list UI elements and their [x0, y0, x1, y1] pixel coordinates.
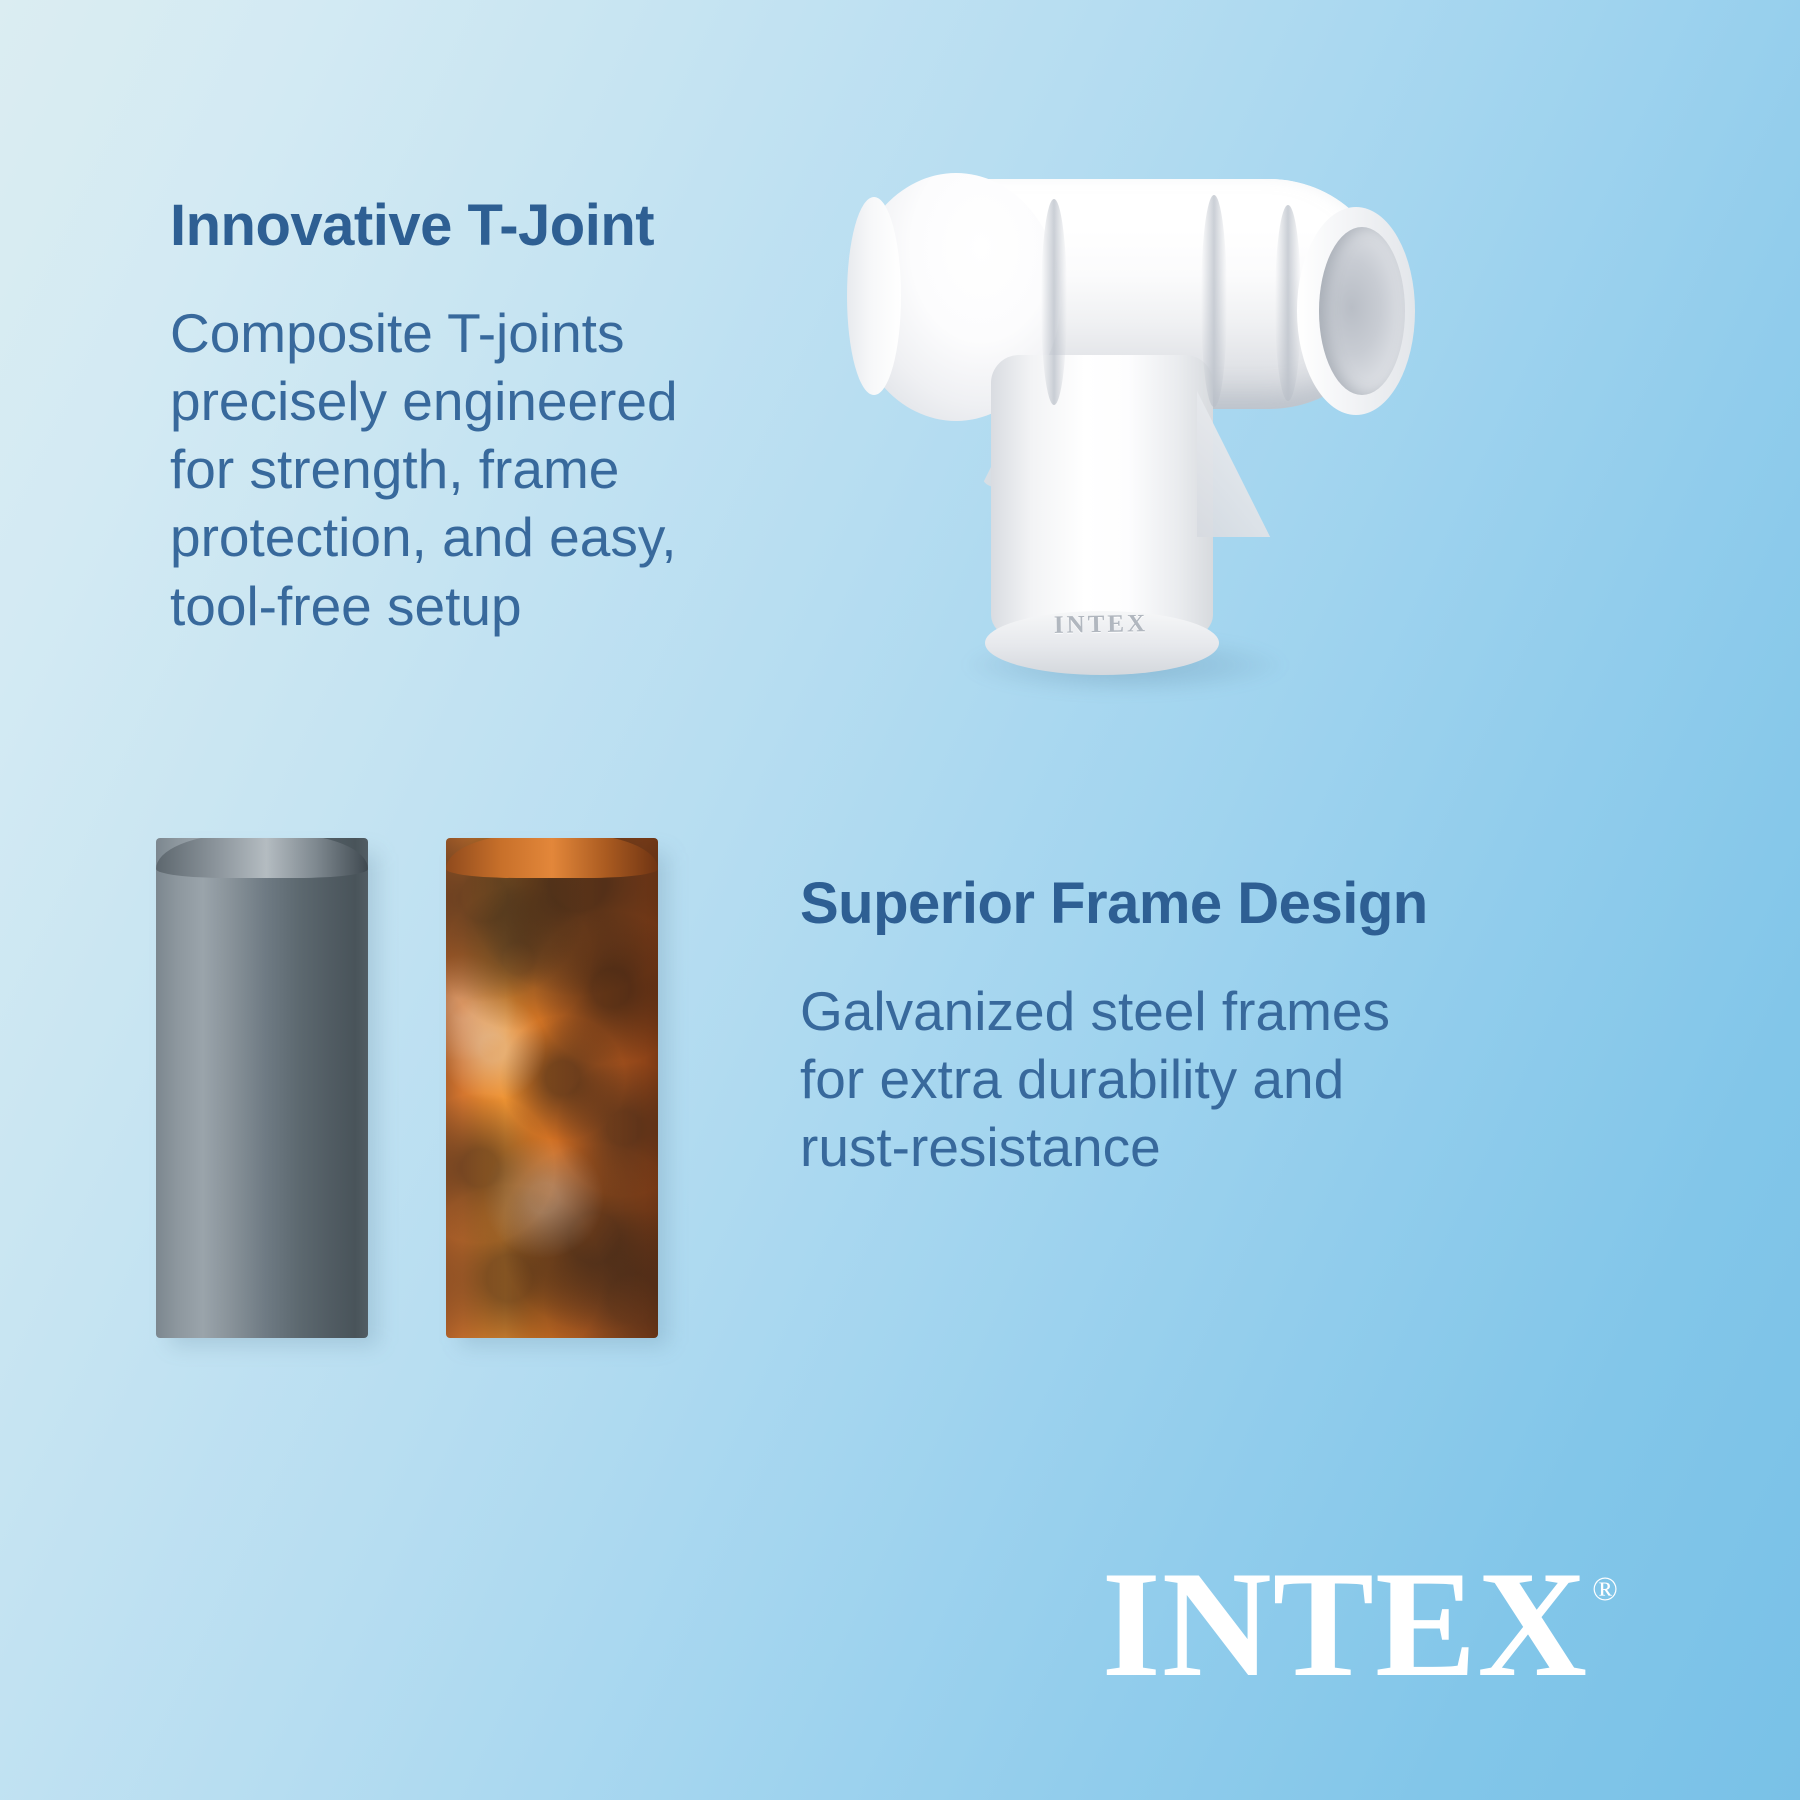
t-joint-socket-bore — [1319, 227, 1405, 395]
feature-body-frame-design: Galvanized steel frames for extra durabi… — [800, 977, 1450, 1182]
intex-brand-logo: INTEX ® — [1102, 1559, 1618, 1690]
feature-block-frame-design: Superior Frame Design Galvanized steel f… — [800, 874, 1450, 1181]
feature-block-t-joint: Innovative T-Joint Composite T-joints pr… — [170, 196, 750, 640]
feature-body-t-joint: Composite T-joints precisely engineered … — [170, 299, 750, 640]
t-joint-product-image: INTEX — [845, 155, 1465, 715]
pipe-surface — [156, 838, 368, 1338]
t-joint-embossed-brand: INTEX — [1011, 609, 1191, 640]
rusted-steel-pipe-sample — [446, 838, 658, 1338]
pipe-top-edge — [446, 838, 658, 878]
infographic-canvas: Innovative T-Joint Composite T-joints pr… — [0, 0, 1800, 1800]
registered-trademark-icon: ® — [1592, 1573, 1618, 1607]
t-joint-seam-ring — [1041, 199, 1067, 405]
t-joint-right-web — [1197, 391, 1315, 537]
pipe-comparison-image — [140, 820, 720, 1360]
pipe-surface — [446, 838, 658, 1338]
pipe-top-edge — [156, 838, 368, 878]
brand-wordmark: INTEX — [1102, 1559, 1588, 1690]
feature-heading-frame-design: Superior Frame Design — [800, 874, 1450, 935]
feature-heading-t-joint: Innovative T-Joint — [170, 196, 750, 257]
galvanized-steel-pipe-sample — [156, 838, 368, 1338]
t-joint-seam-ring — [1201, 195, 1227, 407]
t-joint-left-lip — [847, 197, 901, 395]
